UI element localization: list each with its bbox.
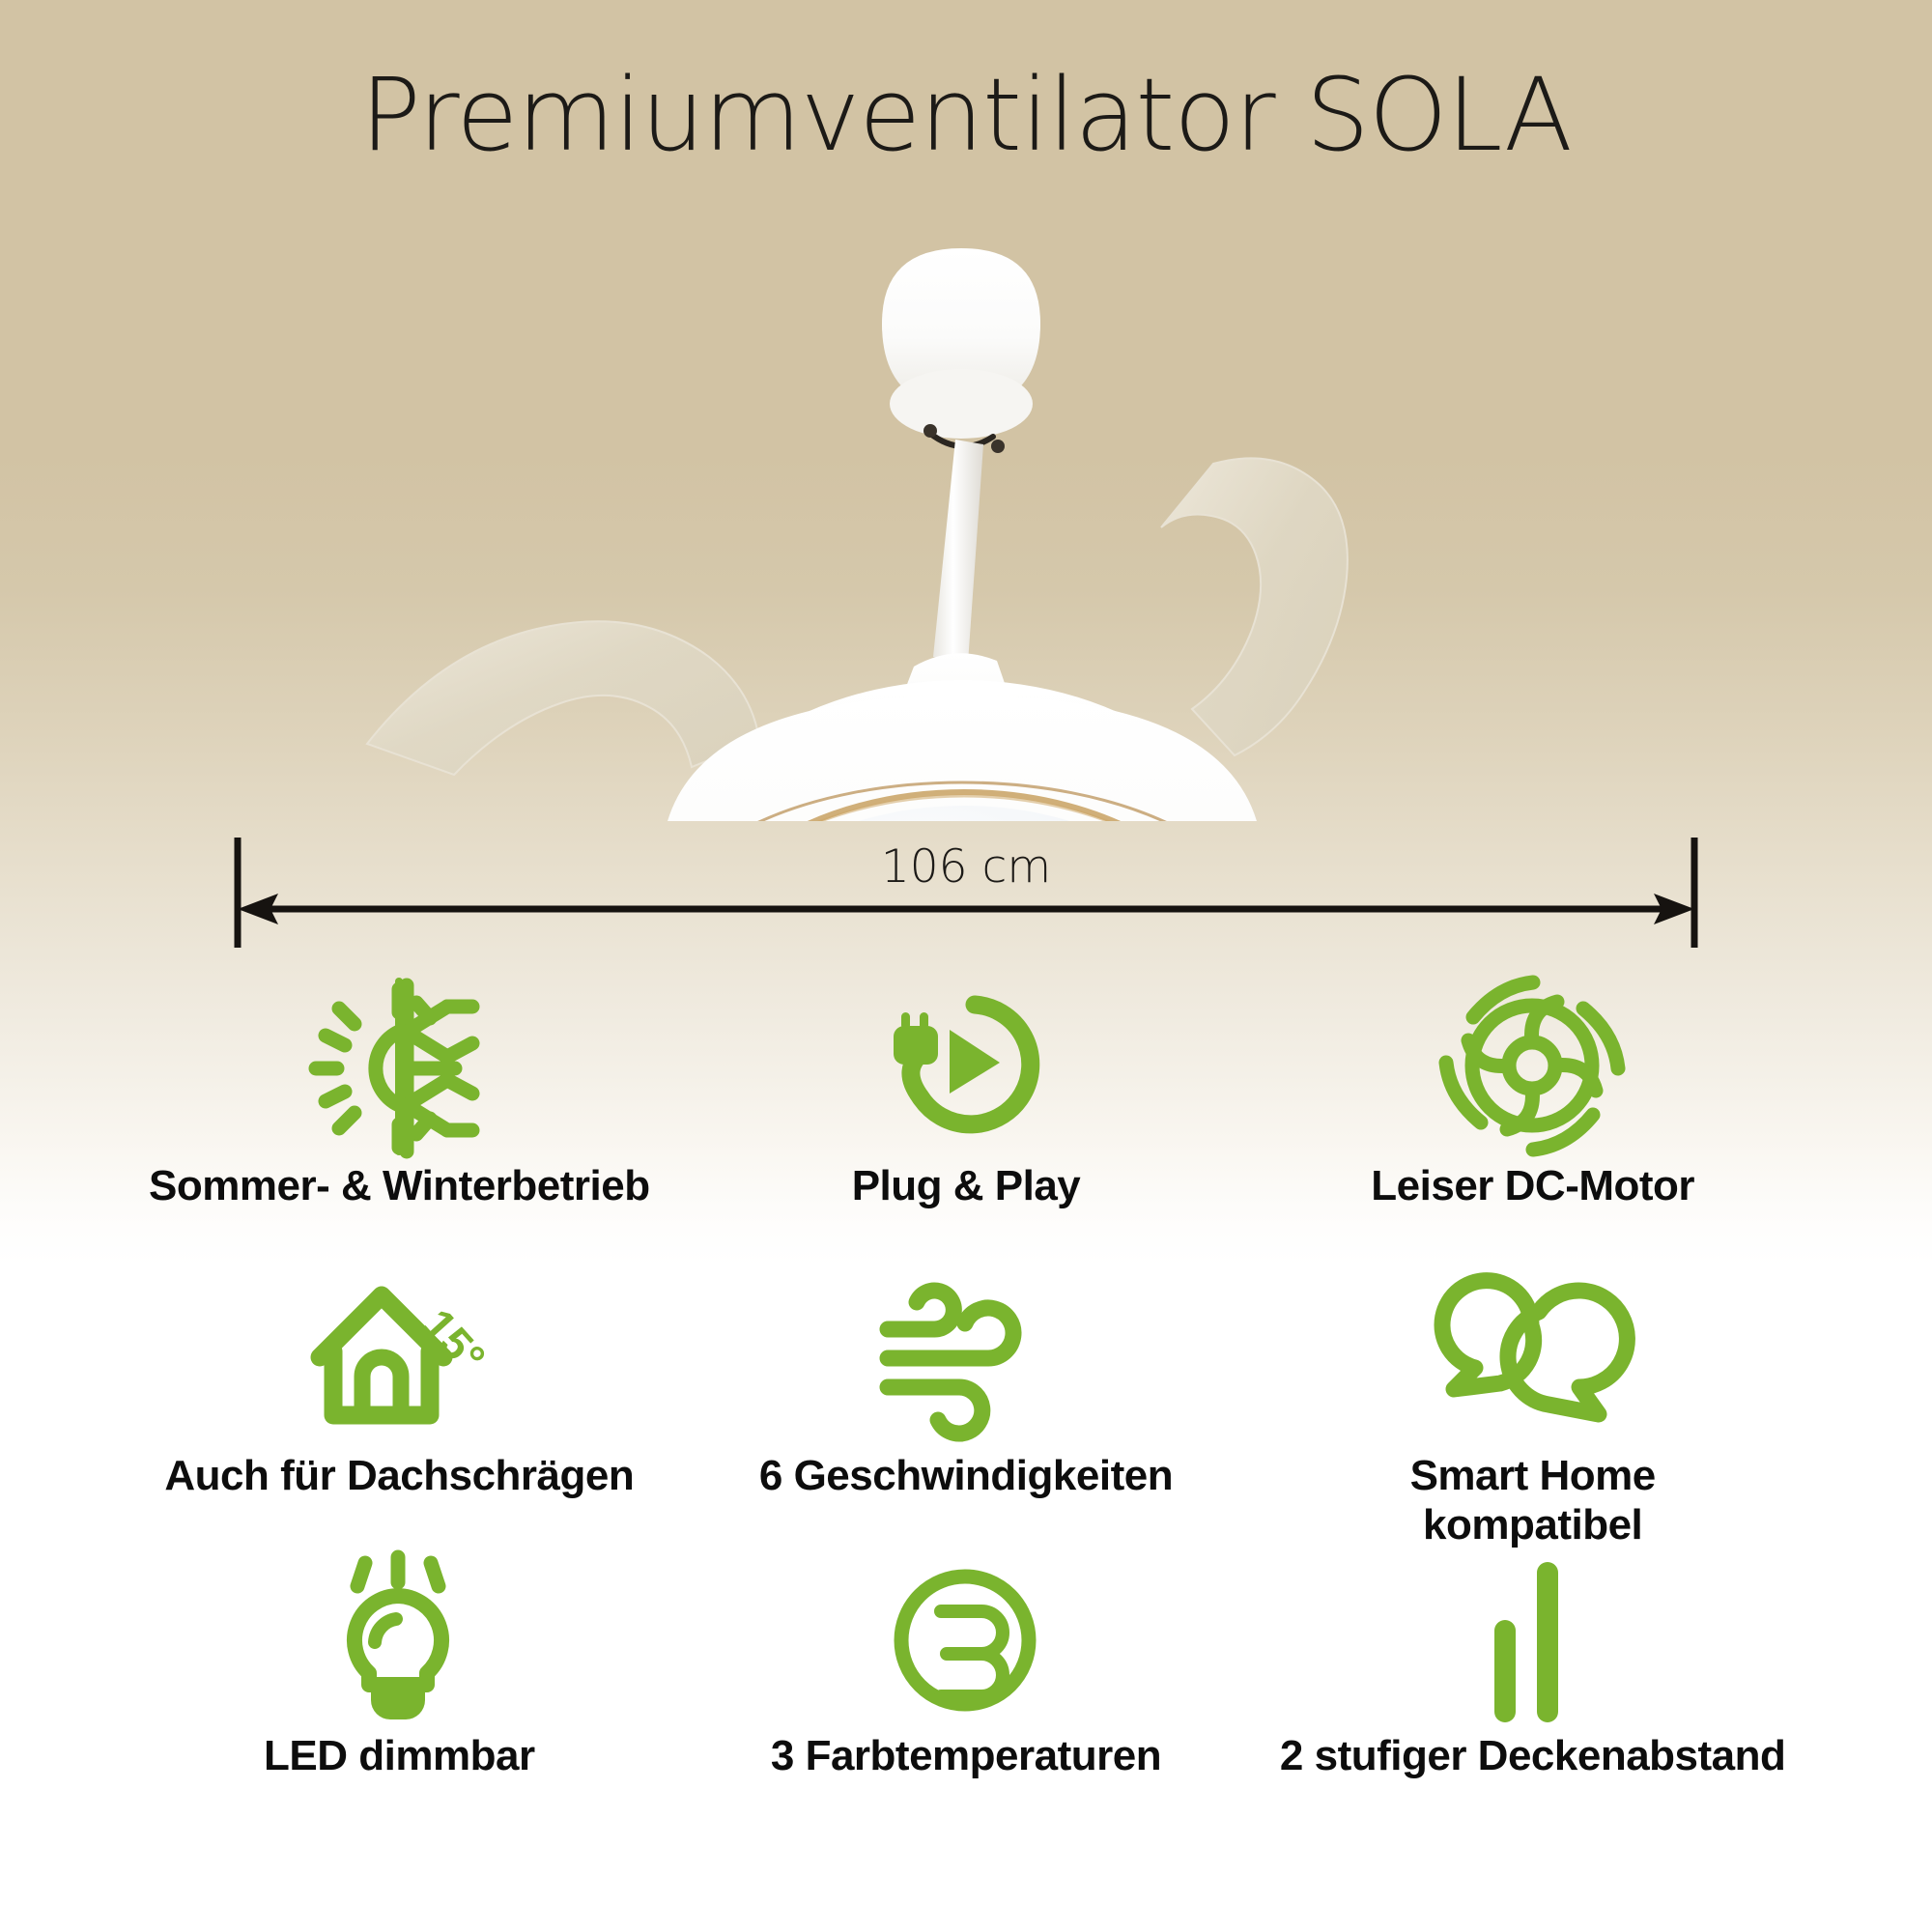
feature-label: Sommer- & Winterbetrieb: [149, 1162, 650, 1211]
sun-snowflake-icon: [302, 976, 496, 1154]
number-three-glyph: [941, 1611, 1003, 1696]
wind-speed-icon: [874, 1265, 1058, 1444]
dimension-label: 106 cm: [0, 840, 1932, 894]
feature-item-farbtemperaturen: 3 Farbtemperaturen: [683, 1555, 1250, 1845]
feature-label: Auch für Dachschrägen: [164, 1452, 634, 1501]
feature-label: Smart Home kompatibel: [1410, 1452, 1656, 1549]
feature-item-dachschraegen: 15° Auch für Dachschrägen: [116, 1265, 683, 1555]
number-three-circle-icon: [881, 1555, 1050, 1724]
product-ceiling-fan-image: [338, 241, 1594, 821]
feature-item-led-dimmbar: LED dimmbar: [116, 1555, 683, 1845]
feature-item-geschwindigkeiten: 6 Geschwindigkeiten: [683, 1265, 1250, 1555]
feature-item-plug-play: Plug & Play: [683, 976, 1250, 1265]
feature-label: 6 Geschwindigkeiten: [759, 1452, 1173, 1501]
feature-grid: Sommer- & Winterbetrieb Plug & Play: [116, 976, 1816, 1845]
feature-label: Plug & Play: [852, 1162, 1081, 1211]
fan-rotor-icon: [1438, 976, 1627, 1154]
house-roof-angle-icon: 15°: [302, 1265, 496, 1444]
feature-label: LED dimmbar: [264, 1732, 535, 1781]
page-title: Premiumventilator SOLA: [0, 60, 1932, 170]
light-bulb-icon: [315, 1555, 484, 1724]
plug-play-icon: [874, 976, 1058, 1154]
two-step-bars-icon: [1470, 1555, 1596, 1724]
speech-bubbles-icon: [1438, 1265, 1627, 1444]
feature-item-deckenabstand: 2 stufiger Deckenabstand: [1249, 1555, 1816, 1845]
feature-item-leiser-dc-motor: Leiser DC-Motor: [1249, 976, 1816, 1265]
feature-item-sommer-winterbetrieb: Sommer- & Winterbetrieb: [116, 976, 683, 1265]
feature-label: 3 Farbtemperaturen: [771, 1732, 1161, 1781]
infographic-page: Premiumventilator SOLA: [0, 0, 1932, 1932]
feature-label: Leiser DC-Motor: [1371, 1162, 1694, 1211]
feature-item-smart-home: Smart Home kompatibel: [1249, 1265, 1816, 1555]
feature-label: 2 stufiger Deckenabstand: [1280, 1732, 1786, 1781]
